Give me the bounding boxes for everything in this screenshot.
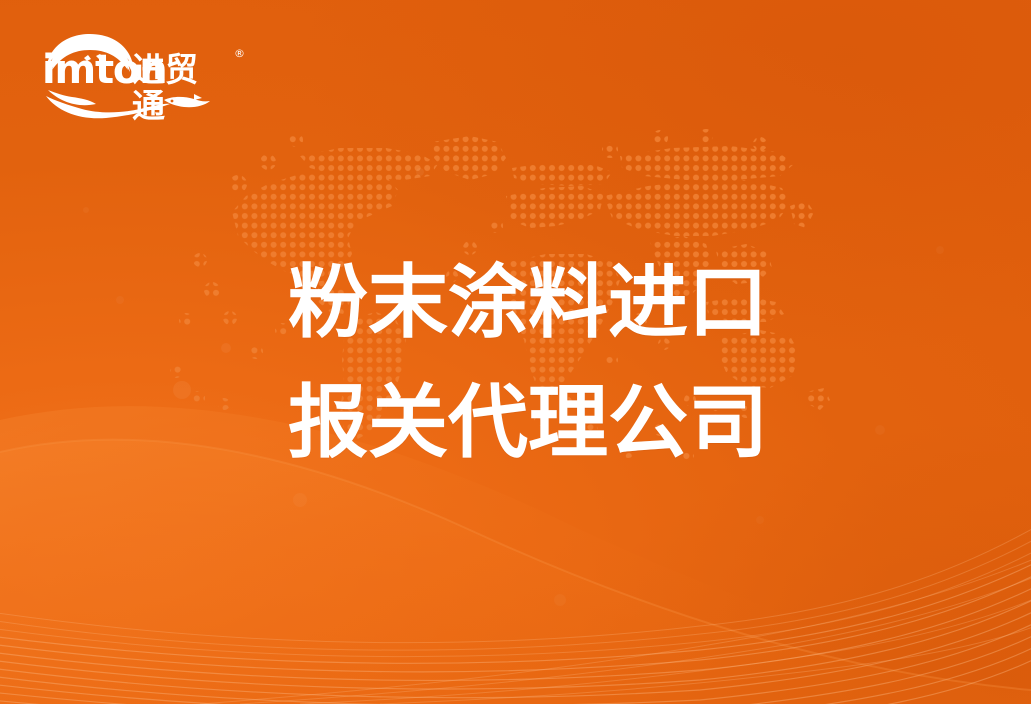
headline-line-2: 报关代理公司: [288, 363, 808, 483]
imton-logo[interactable]: imton 进贸通 ®: [38, 28, 228, 106]
logo-chinese-name: 进贸通: [132, 52, 228, 124]
headline-line-1: 粉末涂料进口: [288, 243, 808, 363]
registered-trademark-symbol: ®: [234, 48, 245, 59]
headline: 粉末涂料进口 报关代理公司: [288, 243, 808, 483]
banner-canvas: imton 进贸通 ® 粉末涂料进口 报关代理公司: [0, 0, 1031, 704]
